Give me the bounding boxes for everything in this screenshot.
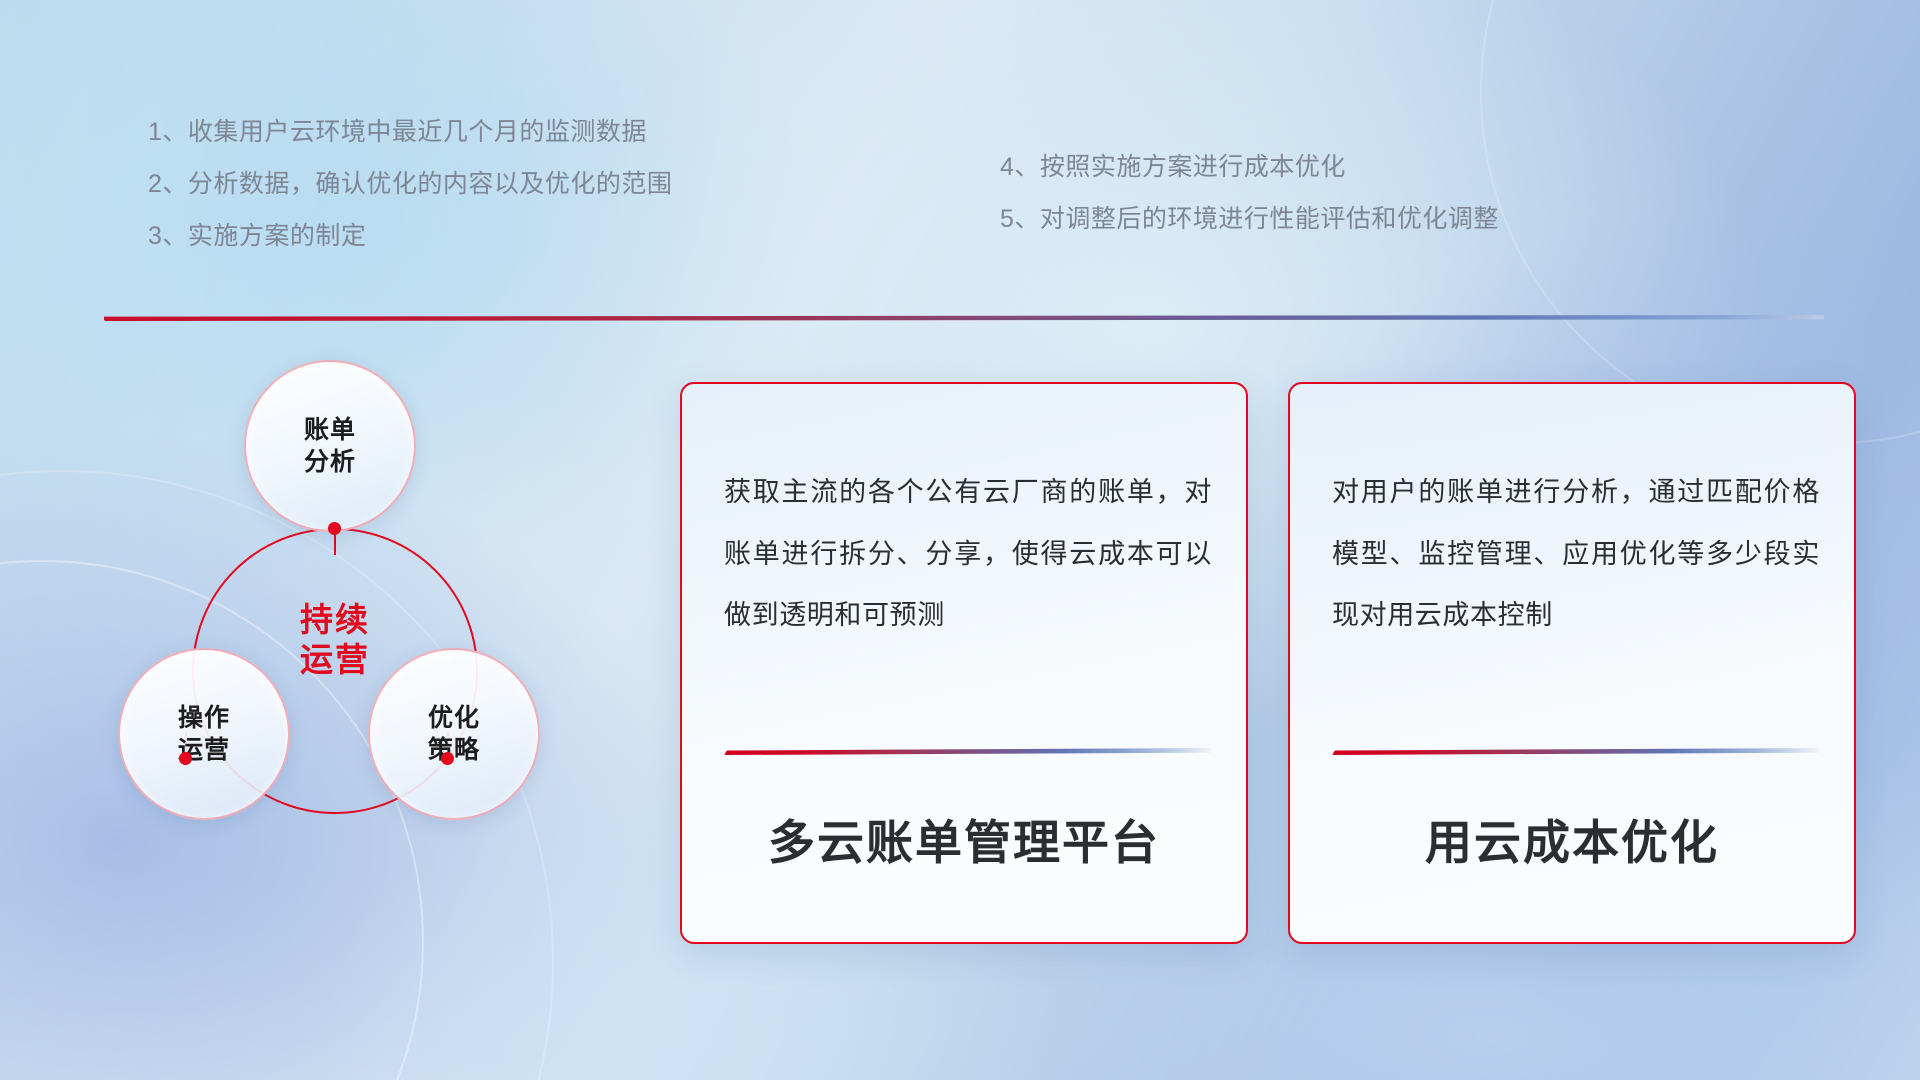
feature-card-1-divider-bar [724, 748, 1212, 755]
diagram-dot-top [328, 522, 341, 535]
diagram-node-bill-analysis-line-1: 账单 [304, 414, 356, 446]
step-item-4: 4、按照实施方案进行成本优化 [1000, 155, 1499, 180]
feature-card-1-body: 获取主流的各个公有云厂商的账单，对账单进行拆分、分享，使得云成本可以做到透明和可… [724, 462, 1212, 647]
feature-card-2-title: 用云成本优化 [1290, 804, 1854, 873]
diagram-node-optimization-strategy[interactable]: 优化 策略 [368, 648, 540, 820]
diagram-node-optimization-strategy-line-2: 策略 [428, 734, 480, 766]
step-item-3: 3、实施方案的制定 [148, 224, 672, 249]
header-divider-rule [104, 315, 1824, 321]
step-item-1: 1、收集用户云环境中最近几个月的监测数据 [148, 120, 672, 145]
header-divider-bar [104, 315, 1824, 321]
step-item-2: 2、分析数据，确认优化的内容以及优化的范围 [148, 172, 672, 197]
feature-card-1-divider [724, 748, 1212, 755]
diagram-dot-left [179, 752, 192, 765]
step-item-5: 5、对调整后的环境进行性能评估和优化调整 [1000, 207, 1499, 232]
steps-list-right: 4、按照实施方案进行成本优化 5、对调整后的环境进行性能评估和优化调整 [1000, 155, 1499, 232]
feature-card-2-divider-bar [1332, 748, 1820, 755]
diagram-node-bill-analysis-line-2: 分析 [304, 446, 356, 478]
feature-card-1-title: 多云账单管理平台 [682, 804, 1246, 873]
feature-card-2-divider [1332, 748, 1820, 755]
diagram-node-operation[interactable]: 操作 运营 [118, 648, 290, 820]
feature-card-cloud-cost-optimization[interactable]: 对用户的账单进行分析，通过匹配价格模型、监控管理、应用优化等多少段实现对用云成本… [1288, 382, 1856, 944]
diagram-node-operation-line-1: 操作 [178, 702, 230, 734]
feature-card-2-body: 对用户的账单进行分析，通过匹配价格模型、监控管理、应用优化等多少段实现对用云成本… [1332, 462, 1820, 647]
diagram-center-line-1: 持续 [215, 600, 455, 640]
continuous-operation-diagram: 持续 运营 账单 分析 操作 运营 优化 策略 [100, 360, 560, 940]
diagram-dot-right [441, 752, 454, 765]
steps-list-left: 1、收集用户云环境中最近几个月的监测数据 2、分析数据，确认优化的内容以及优化的… [148, 120, 672, 249]
diagram-tick-top [334, 533, 336, 555]
diagram-node-bill-analysis[interactable]: 账单 分析 [244, 360, 416, 532]
feature-card-multicloud-billing[interactable]: 获取主流的各个公有云厂商的账单，对账单进行拆分、分享，使得云成本可以做到透明和可… [680, 382, 1248, 944]
slide-canvas: 1、收集用户云环境中最近几个月的监测数据 2、分析数据，确认优化的内容以及优化的… [0, 0, 1920, 1080]
diagram-node-optimization-strategy-line-1: 优化 [428, 702, 480, 734]
